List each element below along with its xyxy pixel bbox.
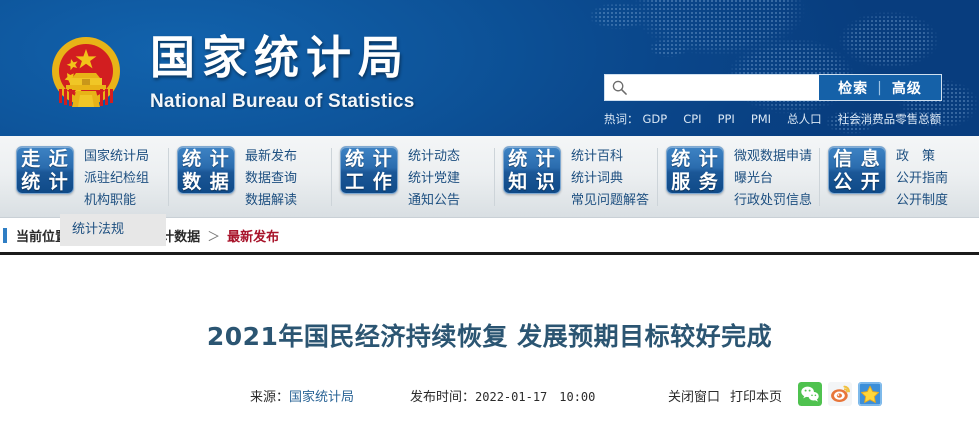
print-page-button[interactable]: 打印本页 [730, 386, 782, 405]
national-emblem-icon [42, 29, 130, 117]
nav-link-statistical-regulations[interactable]: 统计法规 [72, 220, 124, 240]
nav-group-statistical-work[interactable]: 统 计 工 作 统计动态 统计党建 通知公告 [340, 136, 460, 218]
article-actions: 关闭窗口 打印本页 [668, 383, 782, 407]
nav-links-information-disclosure: 政 策 公开指南 公开制度 [896, 146, 948, 211]
breadcrumb-current: 最新发布 [227, 226, 279, 245]
hotwords-label: 热词： [604, 111, 639, 127]
nav-badge-line1: 统 计 [178, 148, 234, 171]
nav-badge-line2: 公 开 [829, 171, 885, 194]
nav-badge-statistical-data[interactable]: 统 计 数 据 [177, 146, 235, 194]
search-input[interactable] [605, 75, 819, 100]
article-source-value: 国家统计局 [289, 390, 354, 405]
article-source: 来源：国家统计局 [250, 386, 354, 405]
nav-badge-line1: 信 息 [829, 148, 885, 171]
hotword-cpi[interactable]: CPI [683, 112, 701, 126]
nav-badge-line2: 知 识 [504, 171, 560, 194]
article-publish-time: 发布时间：2022-01-17 10:00 [410, 386, 595, 405]
article-source-label: 来源： [250, 390, 289, 405]
nav-link-policy[interactable]: 政 策 [896, 147, 948, 167]
nav-badge-line1: 统 计 [667, 148, 723, 171]
nav-badge-line1: 走 近 [17, 148, 73, 171]
article-section: 2021年国民经济持续恢复 发展预期目标较好完成 来源：国家统计局 发布时间：2… [0, 255, 979, 424]
nav-badge-line1: 统 计 [341, 148, 397, 171]
nav-badge-line2: 工 作 [341, 171, 397, 194]
nav-badge-statistical-knowledge[interactable]: 统 计 知 识 [503, 146, 561, 194]
nav-links-statistical-services: 微观数据申请 曝光台 行政处罚信息 [734, 146, 812, 211]
site-title-cn: 国家统计局 [150, 30, 414, 86]
nav-badge-line2: 服 务 [667, 171, 723, 194]
search-box[interactable]: 检索 | 高级 [604, 74, 942, 101]
nav-link-encyclopedia[interactable]: 统计百科 [571, 147, 649, 167]
hotword-pmi[interactable]: PMI [751, 112, 771, 126]
site-title-en: National Bureau of Statistics [150, 90, 414, 114]
favorite-star-icon[interactable] [858, 382, 882, 406]
nav-group-statistical-services[interactable]: 统 计 服 务 微观数据申请 曝光台 行政处罚信息 [666, 136, 812, 218]
page-root: 国家统计局 National Bureau of Statistics 检索 |… [0, 0, 979, 424]
nav-link-data-query[interactable]: 数据查询 [245, 169, 297, 189]
nav-badge-statistical-services[interactable]: 统 计 服 务 [666, 146, 724, 194]
nav-link-party-building[interactable]: 统计党建 [408, 169, 460, 189]
nav-badge-line1: 统 计 [504, 148, 560, 171]
nav-link-microdata-application[interactable]: 微观数据申请 [734, 147, 812, 167]
nav-link-announcements[interactable]: 通知公告 [408, 191, 460, 211]
search-button-group[interactable]: 检索 | 高级 [819, 75, 941, 100]
article-title: 2021年国民经济持续恢复 发展预期目标较好完成 [0, 317, 979, 353]
article-time-value: 2022-01-17 10:00 [475, 390, 595, 404]
hotword-gdp[interactable]: GDP [643, 112, 668, 126]
share-buttons [798, 382, 882, 406]
nav-link-latest-releases[interactable]: 最新发布 [245, 147, 297, 167]
hotword-population[interactable]: 总人口 [787, 111, 822, 127]
nav-badge-line2: 数 据 [178, 171, 234, 194]
nav-link-disclosure-guide[interactable]: 公开指南 [896, 169, 948, 189]
weibo-share-icon[interactable] [828, 382, 852, 406]
main-navigation: 走 近 统 计 国家统计局 派驻纪检组 机构职能 统 计 数 据 最新发布 数据… [0, 136, 979, 218]
nav-overflow-dropdown[interactable]: 统计法规 [60, 214, 166, 246]
nav-link-functions[interactable]: 机构职能 [84, 191, 149, 211]
nav-badge-statistical-work[interactable]: 统 计 工 作 [340, 146, 398, 194]
nav-link-statistical-news[interactable]: 统计动态 [408, 147, 460, 167]
nav-links-approach-statistics: 国家统计局 派驻纪检组 机构职能 [84, 146, 149, 211]
site-brand: 国家统计局 National Bureau of Statistics [150, 30, 414, 114]
hotword-retail-sales[interactable]: 社会消费品零售总额 [838, 111, 942, 127]
nav-group-statistical-knowledge[interactable]: 统 计 知 识 统计百科 统计词典 常见问题解答 [503, 136, 649, 218]
search-submit-button[interactable]: 检索 [838, 78, 868, 98]
nav-badge-information-disclosure[interactable]: 信 息 公 开 [828, 146, 886, 194]
nav-link-data-interpretation[interactable]: 数据解读 [245, 191, 297, 211]
nav-group-approach-statistics[interactable]: 走 近 统 计 国家统计局 派驻纪检组 机构职能 [16, 136, 149, 218]
nav-links-statistical-data: 最新发布 数据查询 数据解读 [245, 146, 297, 211]
breadcrumb-marker-icon [3, 228, 7, 243]
nav-link-discipline-group[interactable]: 派驻纪检组 [84, 169, 149, 189]
hotword-ppi[interactable]: PPI [718, 112, 735, 126]
breadcrumb-separator-2: ＞ [207, 226, 220, 245]
advanced-search-button[interactable]: 高级 [892, 78, 922, 98]
nav-link-dictionary[interactable]: 统计词典 [571, 169, 649, 189]
nav-link-disclosure-system[interactable]: 公开制度 [896, 191, 948, 211]
nav-link-penalty-info[interactable]: 行政处罚信息 [734, 191, 812, 211]
article-meta: 来源：国家统计局 发布时间：2022-01-17 10:00 关闭窗口 打印本页 [0, 383, 979, 407]
nav-group-information-disclosure[interactable]: 信 息 公 开 政 策 公开指南 公开制度 [828, 136, 948, 218]
nav-link-faq[interactable]: 常见问题解答 [571, 191, 649, 211]
nav-link-nbs[interactable]: 国家统计局 [84, 147, 149, 167]
nav-links-statistical-work: 统计动态 统计党建 通知公告 [408, 146, 460, 211]
wechat-share-icon[interactable] [798, 382, 822, 406]
search-separator: | [877, 80, 883, 96]
nav-group-statistical-data[interactable]: 统 计 数 据 最新发布 数据查询 数据解读 [177, 136, 297, 218]
nav-badge-line2: 统 计 [17, 171, 73, 194]
nav-badge-approach-statistics[interactable]: 走 近 统 计 [16, 146, 74, 194]
close-window-button[interactable]: 关闭窗口 [668, 386, 720, 405]
nav-links-statistical-knowledge: 统计百科 统计词典 常见问题解答 [571, 146, 649, 211]
nav-link-exposure-platform[interactable]: 曝光台 [734, 169, 812, 189]
hotwords-bar: 热词： GDP CPI PPI PMI 总人口 社会消费品零售总额 [604, 110, 979, 128]
site-header-banner: 国家统计局 National Bureau of Statistics 检索 |… [0, 0, 979, 136]
article-time-label: 发布时间： [410, 390, 475, 405]
search-icon [612, 80, 627, 95]
